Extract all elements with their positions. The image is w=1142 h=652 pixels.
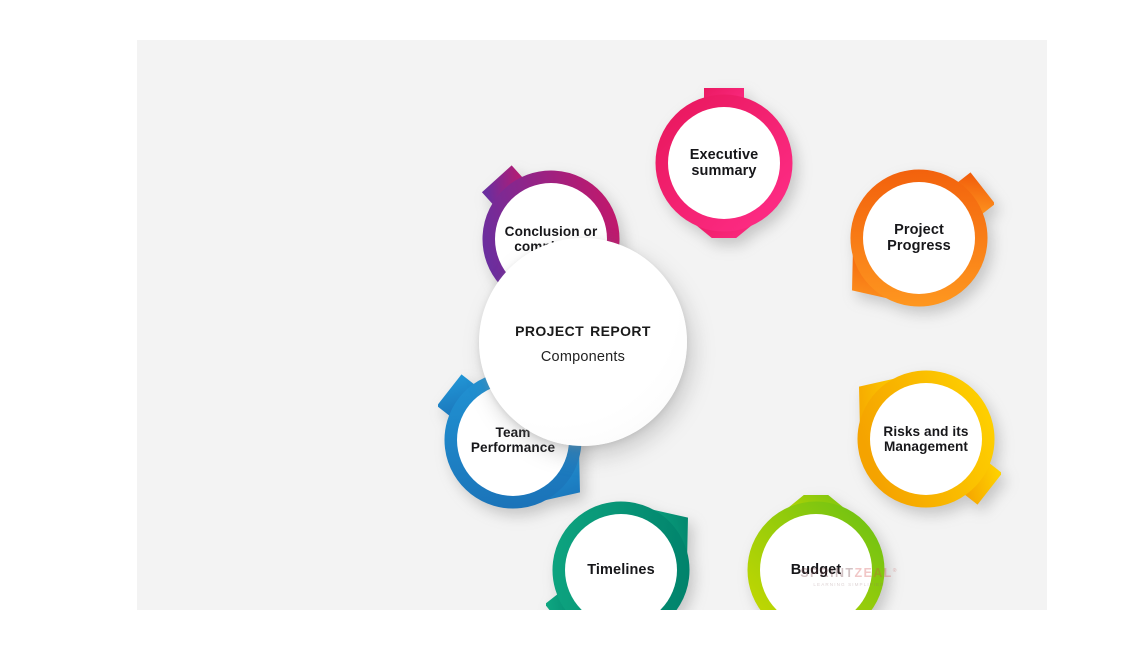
watermark-brand-first: SPRINT — [800, 566, 854, 580]
project-report-components-diagram: Project Report Components — [0, 0, 1142, 652]
center-title: Project Report — [515, 319, 651, 342]
node-project-progress[interactable]: Project Progress — [844, 163, 994, 313]
registered-mark-icon: ® — [893, 568, 898, 574]
ring-budget — [741, 495, 891, 610]
watermark-logo: SPRINTZEAL® LEARNING SIMPLIFIED — [797, 567, 901, 587]
watermark-brand-second: ZEAL — [854, 566, 892, 580]
node-budget[interactable]: Budget — [741, 495, 891, 610]
ring-executive-summary — [649, 88, 799, 238]
watermark-tagline: LEARNING SIMPLIFIED — [797, 582, 901, 587]
diagram-canvas: Project Report Components — [137, 40, 1047, 610]
node-executive-summary[interactable]: Executive summary — [649, 88, 799, 238]
ring-project-progress — [844, 163, 994, 313]
ring-risks-and-its-management — [851, 364, 1001, 514]
node-risks-and-its-management[interactable]: Risks and its Management — [851, 364, 1001, 514]
center-hub: Project Report Components — [479, 238, 687, 446]
center-subtitle: Components — [541, 349, 625, 365]
